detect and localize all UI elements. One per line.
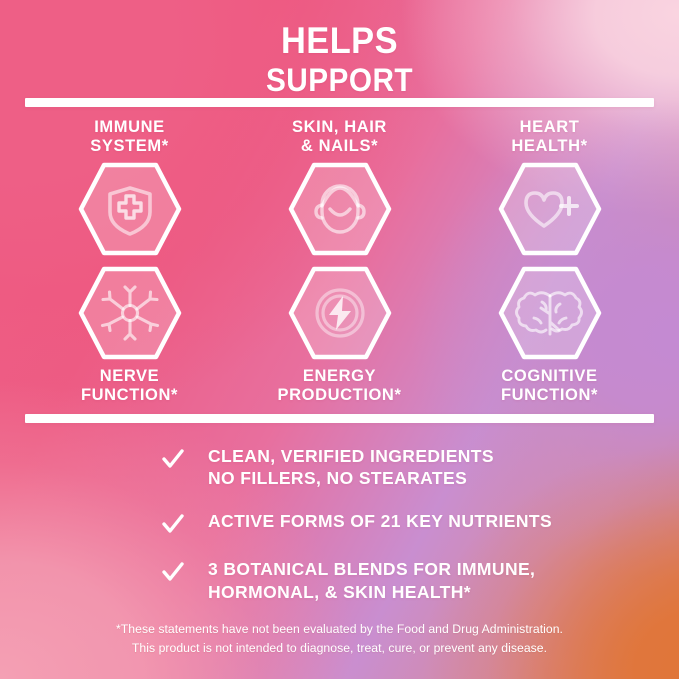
benefit-cognitive-function: COGNITIVE FUNCTION* bbox=[445, 266, 654, 404]
list-item: CLEAN, VERIFIED INGREDIENTS NO FILLERS, … bbox=[160, 444, 620, 489]
benefit-immune-system: IMMUNE SYSTEM* bbox=[25, 118, 234, 256]
benefit-label: HEART HEALTH* bbox=[511, 118, 587, 155]
checkmark-icon bbox=[160, 446, 186, 472]
promo-graphic: HELPS SUPPORT IMMUNE SYSTEM* NERVE FUNCT… bbox=[0, 0, 679, 679]
title-line-1: HELPS bbox=[24, 22, 655, 59]
shield-cross-icon bbox=[78, 162, 182, 256]
benefit-label: IMMUNE SYSTEM* bbox=[90, 118, 168, 155]
disclaimer-line-1: *These statements have not been evaluate… bbox=[0, 620, 679, 638]
disclaimer-line-2: This product is not intended to diagnose… bbox=[0, 639, 679, 657]
benefit-nerve-function: NERVE FUNCTION* bbox=[25, 266, 234, 404]
list-item-label: 3 BOTANICAL BLENDS FOR IMMUNE, HORMONAL,… bbox=[208, 557, 535, 602]
title-line-2: SUPPORT bbox=[24, 64, 655, 96]
neuron-icon bbox=[78, 266, 182, 360]
page-title: HELPS SUPPORT bbox=[0, 22, 679, 96]
benefits-grid: IMMUNE SYSTEM* NERVE FUNCTION* bbox=[25, 118, 654, 402]
brain-icon bbox=[498, 266, 602, 360]
benefit-skin-hair-nails: SKIN, HAIR & NAILS* bbox=[235, 118, 444, 256]
benefit-column-2: HEART HEALTH* COGNITIVE FUNCTION* bbox=[445, 118, 654, 402]
checkmark-icon bbox=[160, 511, 186, 537]
benefit-column-1: SKIN, HAIR & NAILS* ENER bbox=[235, 118, 444, 402]
benefit-label: SKIN, HAIR & NAILS* bbox=[292, 118, 387, 155]
benefit-energy-production: ENERGY PRODUCTION* bbox=[235, 266, 444, 404]
list-item-label: CLEAN, VERIFIED INGREDIENTS NO FILLERS, … bbox=[208, 444, 494, 489]
benefit-heart-health: HEART HEALTH* bbox=[445, 118, 654, 256]
checkmark-icon bbox=[160, 559, 186, 585]
lightning-bolt-icon bbox=[288, 266, 392, 360]
benefit-label: COGNITIVE FUNCTION* bbox=[501, 367, 598, 404]
benefit-label: NERVE FUNCTION* bbox=[81, 367, 178, 404]
list-item: 3 BOTANICAL BLENDS FOR IMMUNE, HORMONAL,… bbox=[160, 557, 620, 602]
disclaimer: *These statements have not been evaluate… bbox=[0, 620, 679, 657]
face-hair-icon bbox=[288, 162, 392, 256]
feature-checklist: CLEAN, VERIFIED INGREDIENTS NO FILLERS, … bbox=[160, 444, 620, 623]
list-item: ACTIVE FORMS OF 21 KEY NUTRIENTS bbox=[160, 509, 620, 537]
list-item-label: ACTIVE FORMS OF 21 KEY NUTRIENTS bbox=[208, 509, 552, 532]
heart-plus-icon bbox=[498, 162, 602, 256]
divider-rule-bottom bbox=[25, 414, 654, 423]
benefit-column-0: IMMUNE SYSTEM* NERVE FUNCTION* bbox=[25, 118, 234, 402]
divider-rule-top bbox=[25, 98, 654, 107]
benefit-label: ENERGY PRODUCTION* bbox=[278, 367, 402, 404]
